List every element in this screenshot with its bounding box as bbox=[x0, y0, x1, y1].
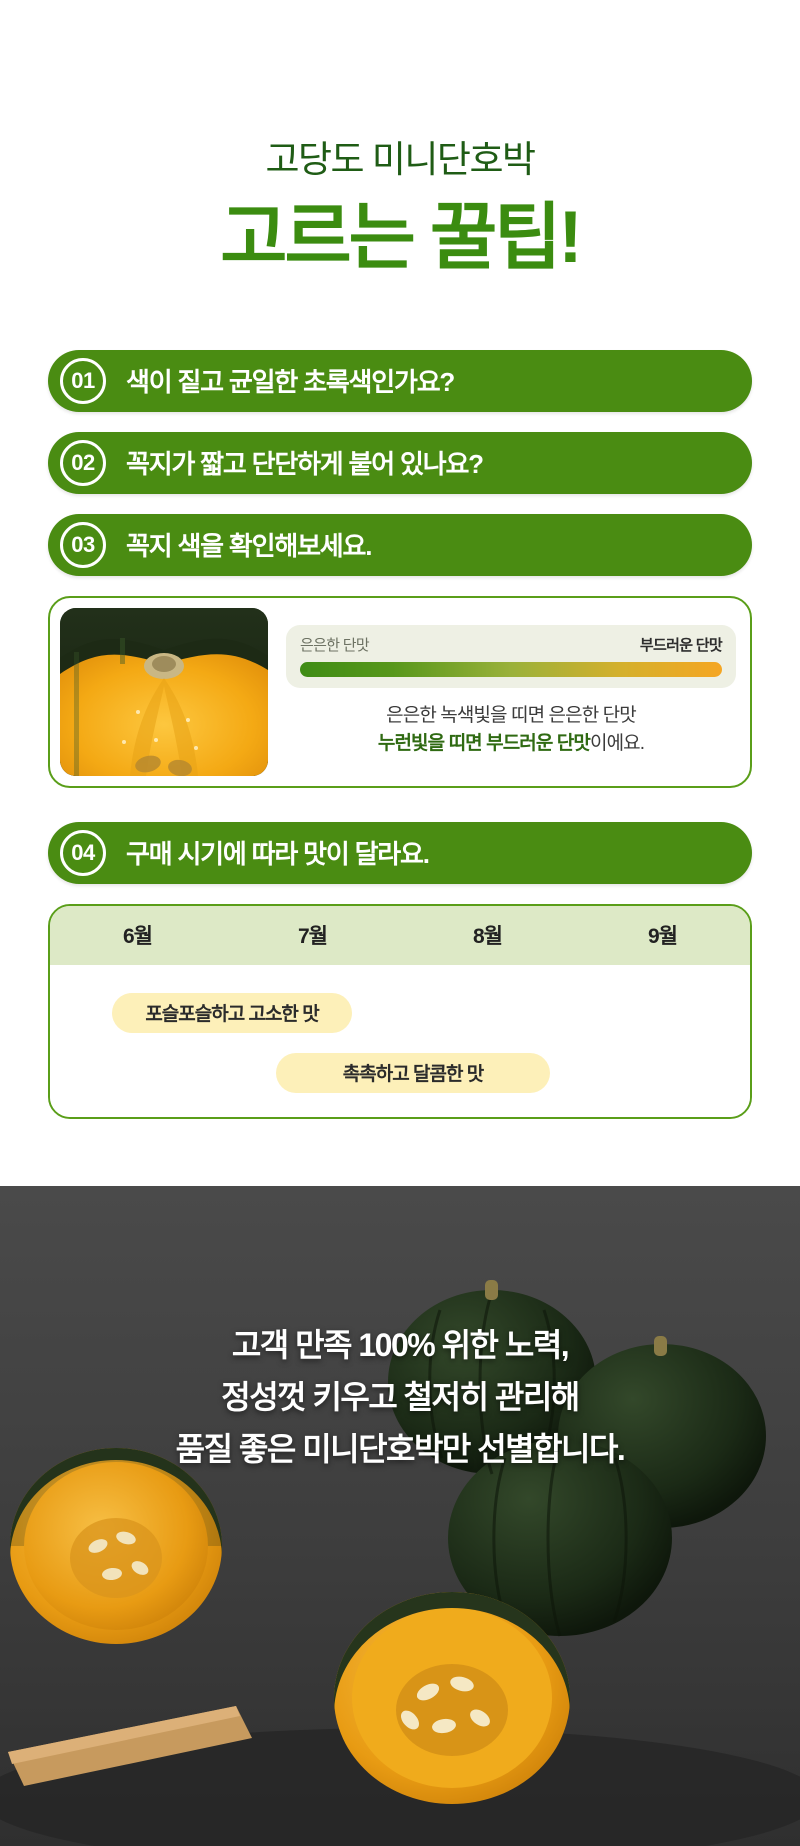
tip-label: 색이 짙고 균일한 초록색인가요? bbox=[126, 362, 454, 399]
season-taste-body: 포슬포슬하고 고소한 맛 촉촉하고 달콤한 맛 bbox=[50, 965, 750, 1117]
promo-page: 고당도 미니단호박 고르는 꿀팁! 01 색이 짙고 균일한 초록색인가요? 0… bbox=[0, 0, 800, 1846]
banner-headline: 고객 만족 100% 위한 노력, 정성껏 키우고 철저히 관리해 품질 좋은 … bbox=[0, 1320, 800, 1475]
page-eyebrow: 고당도 미니단호박 bbox=[0, 140, 800, 181]
tip-label: 구매 시기에 따라 맛이 달라요. bbox=[126, 834, 429, 871]
taste-tag-early: 포슬포슬하고 고소한 맛 bbox=[112, 993, 352, 1033]
page-title: 고르는 꿀팁! bbox=[0, 199, 800, 278]
stem-card-content: 은은한 단맛 부드러운 단맛 은은한 녹색빛을 띠면 은은한 단맛 누런빛을 띠… bbox=[268, 608, 740, 776]
banner-line-1: 고객 만족 100% 위한 노력, bbox=[0, 1320, 800, 1372]
season-month-header: 6월 7월 8월 9월 bbox=[50, 906, 750, 965]
month-cell-8: 8월 bbox=[400, 920, 575, 950]
sweetness-gauge: 은은한 단맛 부드러운 단맛 bbox=[286, 625, 736, 688]
tip-number-badge: 04 bbox=[60, 830, 106, 876]
tip-number-badge: 02 bbox=[60, 440, 106, 486]
gauge-labels: 은은한 단맛 부드러운 단맛 bbox=[300, 634, 722, 655]
tip-label: 꼭지가 짧고 단단하게 붙어 있나요? bbox=[126, 444, 483, 481]
stem-desc-line2-tail: 이에요. bbox=[590, 733, 644, 754]
tip-number-badge: 01 bbox=[60, 358, 106, 404]
stem-desc-line1: 은은한 녹색빛을 띠면 은은한 단맛 bbox=[386, 705, 636, 726]
stem-desc-line2-strong: 누런빛을 띠면 부드러운 단맛 bbox=[378, 733, 590, 754]
page-header: 고당도 미니단호박 고르는 꿀팁! bbox=[0, 0, 800, 278]
month-cell-7: 7월 bbox=[225, 920, 400, 950]
bottom-photo-banner: 고객 만족 100% 위한 노력, 정성껏 키우고 철저히 관리해 품질 좋은 … bbox=[0, 1186, 800, 1846]
tips-list: 01 색이 짙고 균일한 초록색인가요? 02 꼭지가 짧고 단단하게 붙어 있… bbox=[0, 350, 800, 576]
gauge-left-label: 은은한 단맛 bbox=[300, 634, 369, 655]
pumpkin-cross-section-photo bbox=[60, 608, 268, 776]
tip-label: 꼭지 색을 확인해보세요. bbox=[126, 526, 371, 563]
gauge-right-label: 부드러운 단맛 bbox=[640, 634, 722, 655]
banner-line-3: 품질 좋은 미니단호박만 선별합니다. bbox=[0, 1424, 800, 1476]
taste-tag-late: 촉촉하고 달콤한 맛 bbox=[276, 1053, 550, 1093]
tip-row-03[interactable]: 03 꼭지 색을 확인해보세요. bbox=[48, 514, 752, 576]
tips-list-secondary: 04 구매 시기에 따라 맛이 달라요. bbox=[0, 822, 800, 884]
tip-number-badge: 03 bbox=[60, 522, 106, 568]
banner-line-2: 정성껏 키우고 철저히 관리해 bbox=[0, 1372, 800, 1424]
tip-row-02[interactable]: 02 꼭지가 짧고 단단하게 붙어 있나요? bbox=[48, 432, 752, 494]
season-taste-table: 6월 7월 8월 9월 포슬포슬하고 고소한 맛 촉촉하고 달콤한 맛 bbox=[48, 904, 752, 1119]
gauge-bar bbox=[300, 662, 722, 677]
month-cell-6: 6월 bbox=[50, 920, 225, 950]
tip-row-04[interactable]: 04 구매 시기에 따라 맛이 달라요. bbox=[48, 822, 752, 884]
month-cell-9: 9월 bbox=[575, 920, 750, 950]
tip-row-01[interactable]: 01 색이 짙고 균일한 초록색인가요? bbox=[48, 350, 752, 412]
stem-description: 은은한 녹색빛을 띠면 은은한 단맛 누런빛을 띠면 부드러운 단맛이에요. bbox=[286, 702, 736, 759]
stem-color-card: 은은한 단맛 부드러운 단맛 은은한 녹색빛을 띠면 은은한 단맛 누런빛을 띠… bbox=[48, 596, 752, 788]
